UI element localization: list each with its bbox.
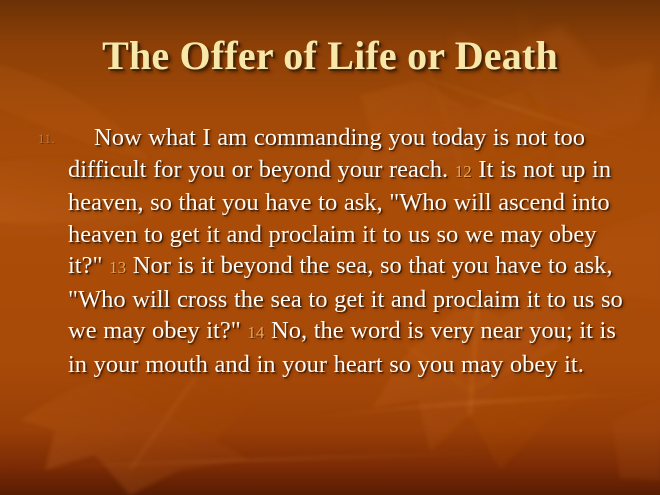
bullet-number-marker: 11. bbox=[38, 131, 55, 147]
verse-number: 14 bbox=[247, 323, 264, 342]
slide-title: The Offer of Life or Death bbox=[102, 32, 558, 79]
slide-title-block: The Offer of Life or Death bbox=[0, 32, 660, 79]
verse-number: 12 bbox=[455, 162, 472, 181]
bullet-item: 11. Now what I am commanding you today i… bbox=[36, 122, 636, 380]
slide-body-block: 11. Now what I am commanding you today i… bbox=[36, 122, 636, 380]
scripture-passage-text: Now what I am commanding you today is no… bbox=[68, 122, 636, 380]
presentation-slide: The Offer of Life or Death 11. Now what … bbox=[0, 0, 660, 495]
verse-number: 13 bbox=[109, 258, 126, 277]
